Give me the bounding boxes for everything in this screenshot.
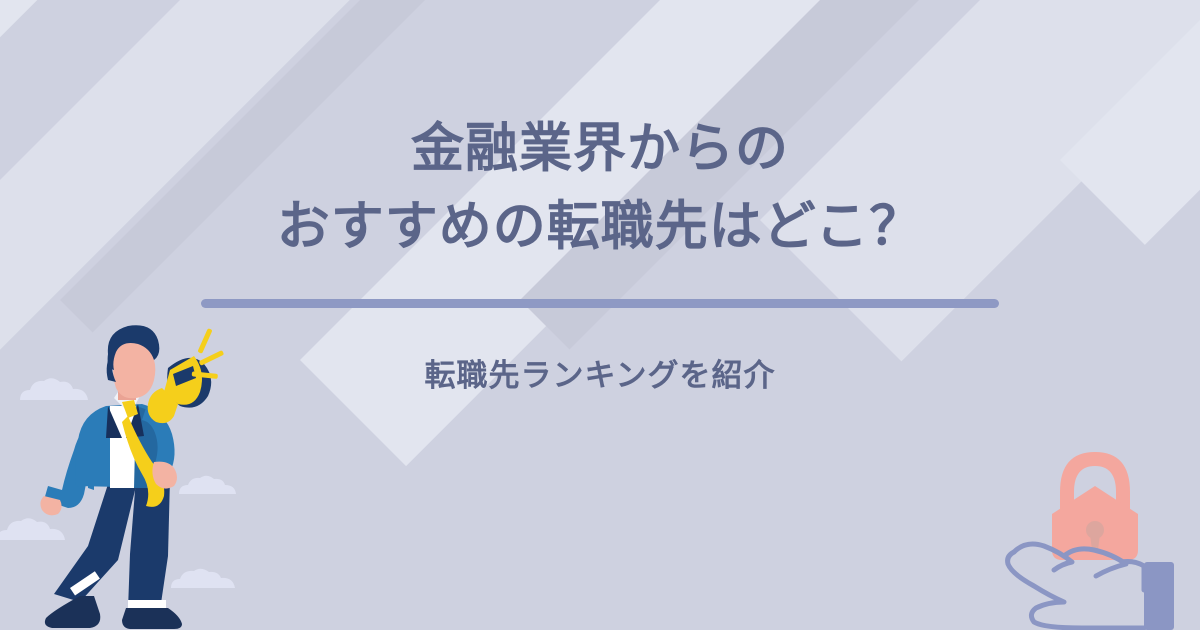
person-front-shoe <box>122 608 182 629</box>
megaphone-icon <box>148 328 225 423</box>
lock-in-hand-illustration <box>990 430 1200 630</box>
hand-cuff <box>1144 562 1174 630</box>
megaphone-sound-line-1 <box>197 328 212 354</box>
article-header-banner: 金融業界からの おすすめの転職先はどこ？ 転職先ランキングを紹介 <box>0 0 1200 630</box>
businessman-with-megaphone-illustration <box>18 310 248 630</box>
person-back-shoe <box>45 596 100 628</box>
